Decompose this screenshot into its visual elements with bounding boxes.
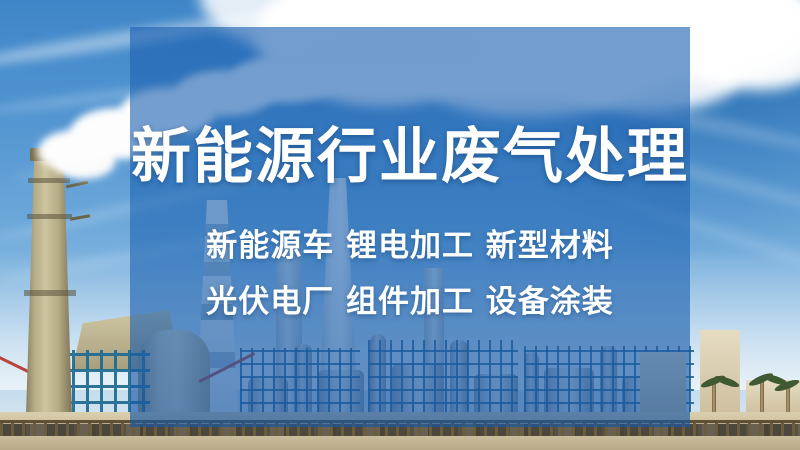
hero-banner: 新能源行业废气处理 新能源车 锂电加工 新型材料 光伏电厂 组件加工 设备涂装 <box>0 0 800 450</box>
smokestack-band <box>24 290 76 296</box>
page-title: 新能源行业废气处理 <box>131 127 689 187</box>
industrial-building <box>700 330 740 416</box>
subtitle-line-1: 新能源车 锂电加工 新型材料 <box>206 231 614 262</box>
smokestack-band <box>28 178 70 183</box>
subtitle-line-2: 光伏电厂 组件加工 设备涂装 <box>206 287 614 318</box>
banner-text-block: 新能源行业废气处理 新能源车 锂电加工 新型材料 光伏电厂 组件加工 设备涂装 <box>130 27 690 427</box>
road-strip <box>0 436 800 450</box>
smokestack-band <box>27 214 72 219</box>
